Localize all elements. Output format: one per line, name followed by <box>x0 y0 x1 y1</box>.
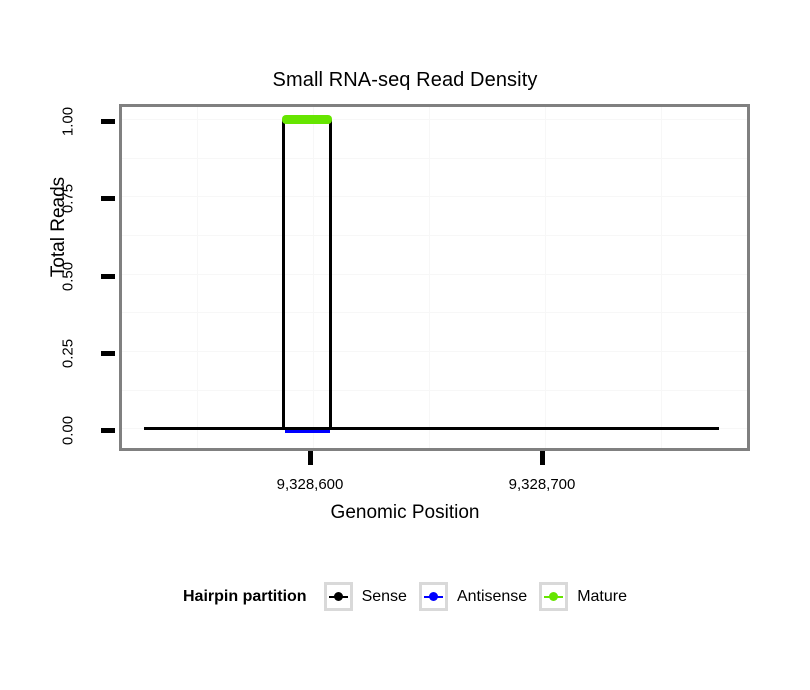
gridline-x-minor-1 <box>197 107 198 448</box>
gridline-x-minor-2 <box>429 107 430 448</box>
legend-key-dot-mature <box>549 592 558 601</box>
chart-title: Small RNA-seq Read Density <box>0 68 810 92</box>
legend-title: Hairpin partition <box>183 588 307 606</box>
gridline-x-minor-3 <box>661 107 662 448</box>
gridline-y-minor-1 <box>122 390 747 391</box>
y-tick-label-0: 0.00 <box>60 403 77 459</box>
legend-label-mature: Mature <box>577 588 627 606</box>
x-tick-label-1: 9,328,700 <box>482 476 602 493</box>
legend-label-sense: Sense <box>362 588 407 606</box>
y-tick-label-2: 0.50 <box>60 249 77 305</box>
sense-peak-falling-edge <box>329 120 332 430</box>
gridline-y-75 <box>122 196 747 197</box>
plot-area <box>122 107 747 448</box>
gridline-x-9328700 <box>545 107 546 448</box>
legend: Hairpin partition Sense Antisense Mature <box>0 582 810 611</box>
gridline-y-minor-4 <box>122 158 747 159</box>
y-tick-mark-2 <box>101 274 115 279</box>
chart-figure: Small RNA-seq Read Density Total Reads G… <box>0 0 810 690</box>
legend-entry-mature[interactable]: Mature <box>539 582 627 611</box>
x-axis-title: Genomic Position <box>0 502 810 524</box>
plot-panel <box>119 104 750 451</box>
y-tick-label-3: 0.75 <box>60 171 77 227</box>
gridline-y-25 <box>122 351 747 352</box>
legend-label-antisense: Antisense <box>457 588 527 606</box>
gridline-y-100 <box>122 119 747 120</box>
y-tick-mark-4 <box>101 119 115 124</box>
gridline-y-50 <box>122 274 747 275</box>
legend-entry-antisense[interactable]: Antisense <box>419 582 527 611</box>
gridline-x-9328600 <box>313 107 314 448</box>
x-tick-mark-1 <box>540 451 545 465</box>
y-tick-mark-3 <box>101 196 115 201</box>
sense-peak-rising-edge <box>282 120 285 430</box>
legend-key-mature <box>539 582 568 611</box>
sense-baseline-right <box>329 427 719 430</box>
legend-key-dot-sense <box>334 592 343 601</box>
mature-region-bar <box>282 115 332 124</box>
x-tick-label-0: 9,328,600 <box>250 476 370 493</box>
y-tick-mark-0 <box>101 428 115 433</box>
legend-key-sense <box>324 582 353 611</box>
x-tick-mark-0 <box>308 451 313 465</box>
gridline-y-minor-2 <box>122 312 747 313</box>
y-tick-label-4: 1.00 <box>60 94 77 150</box>
legend-key-dot-antisense <box>429 592 438 601</box>
legend-key-antisense <box>419 582 448 611</box>
gridline-y-minor-3 <box>122 235 747 236</box>
antisense-baseline-span <box>285 430 330 433</box>
legend-entry-sense[interactable]: Sense <box>324 582 407 611</box>
y-tick-mark-1 <box>101 351 115 356</box>
y-tick-label-1: 0.25 <box>60 326 77 382</box>
